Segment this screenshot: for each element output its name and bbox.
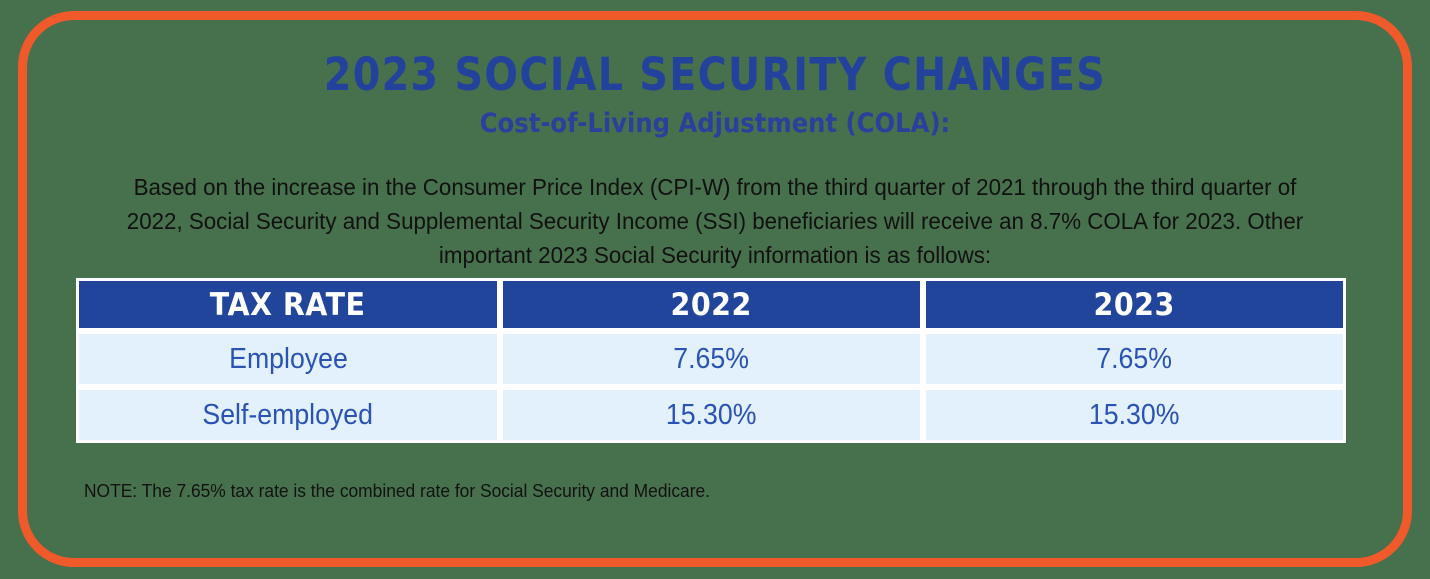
cell-row1-label: Self-employed: [76, 387, 500, 443]
table-row: Self-employed 15.30% 15.30%: [76, 387, 1346, 443]
table-body: Employee 7.65% 7.65% Self-employed 15.30…: [76, 331, 1346, 443]
page-title: 2023 SOCIAL SECURITY CHANGES: [86, 52, 1344, 99]
cell-row1-2022-text: 15.30%: [666, 399, 756, 432]
intro-paragraph: Based on the increase in the Consumer Pr…: [104, 170, 1326, 272]
title-block: 2023 SOCIAL SECURITY CHANGES Cost-of-Liv…: [0, 52, 1430, 139]
cell-row0-2022-text: 7.65%: [674, 343, 750, 376]
column-header-2023-label: 2023: [1094, 287, 1175, 323]
column-header-2023: 2023: [923, 278, 1346, 331]
column-header-2022: 2022: [500, 278, 923, 331]
column-header-tax-rate: TAX RATE: [76, 278, 500, 331]
infographic-content: 2023 SOCIAL SECURITY CHANGES Cost-of-Liv…: [0, 0, 1430, 579]
table-row: Employee 7.65% 7.65%: [76, 331, 1346, 387]
cell-row0-label-text: Employee: [229, 343, 348, 376]
page-subtitle: Cost-of-Living Adjustment (COLA):: [72, 108, 1359, 139]
cell-row1-2023: 15.30%: [923, 387, 1346, 443]
table-header-row: TAX RATE 2022 2023: [76, 278, 1346, 331]
cell-row1-2022: 15.30%: [500, 387, 923, 443]
cell-row1-2023-text: 15.30%: [1089, 399, 1179, 432]
tax-rate-table: TAX RATE 2022 2023 Employee 7.65% 7.: [76, 278, 1346, 443]
cell-row1-label-text: Self-employed: [203, 399, 374, 432]
column-header-2022-label: 2022: [671, 287, 752, 323]
footer-note: NOTE: The 7.65% tax rate is the combined…: [84, 480, 710, 502]
cell-row0-label: Employee: [76, 331, 500, 387]
cell-row0-2022: 7.65%: [500, 331, 923, 387]
cell-row0-2023-text: 7.65%: [1097, 343, 1173, 376]
cell-row0-2023: 7.65%: [923, 331, 1346, 387]
table-header: TAX RATE 2022 2023: [76, 278, 1346, 331]
column-header-tax-rate-label: TAX RATE: [210, 287, 366, 323]
